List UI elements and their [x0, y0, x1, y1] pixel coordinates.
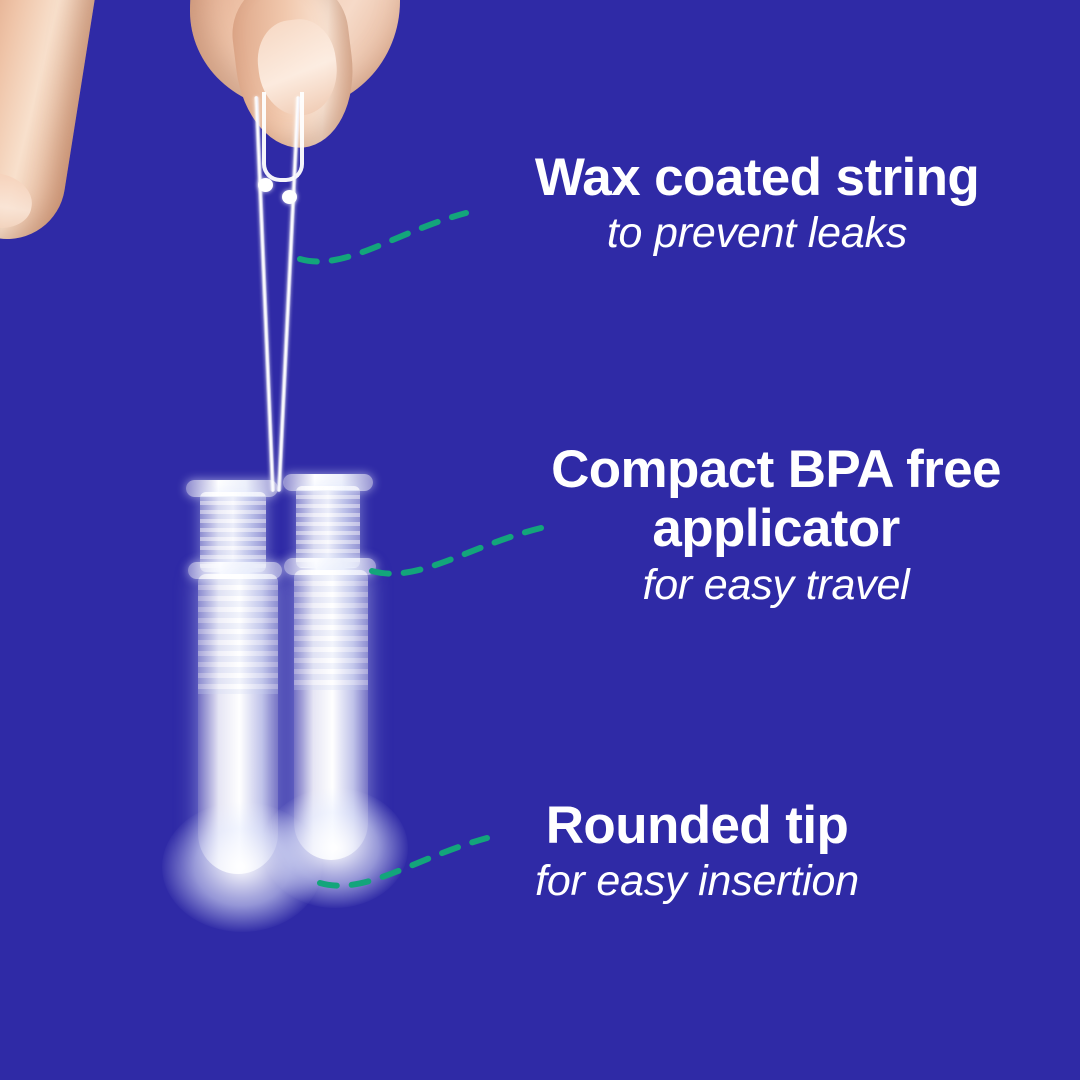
annotation-wax-coated-string: Wax coated string to prevent leaks: [452, 148, 1062, 259]
annotation-subtitle: to prevent leaks: [452, 209, 1062, 259]
leader-line-string: [300, 213, 466, 262]
product-infographic: Wax coated string to prevent leaks Compa…: [0, 0, 1080, 1080]
annotation-title: Wax coated string: [452, 148, 1062, 207]
annotation-rounded-tip: Rounded tip for easy insertion: [432, 796, 962, 907]
annotation-title: Rounded tip: [432, 796, 962, 855]
annotation-compact-bpa-free-applicator: Compact BPA free applicator for easy tra…: [506, 440, 1046, 611]
annotation-subtitle: for easy insertion: [432, 857, 962, 907]
annotation-subtitle: for easy travel: [506, 561, 1046, 611]
annotation-title: Compact BPA free applicator: [506, 440, 1046, 559]
